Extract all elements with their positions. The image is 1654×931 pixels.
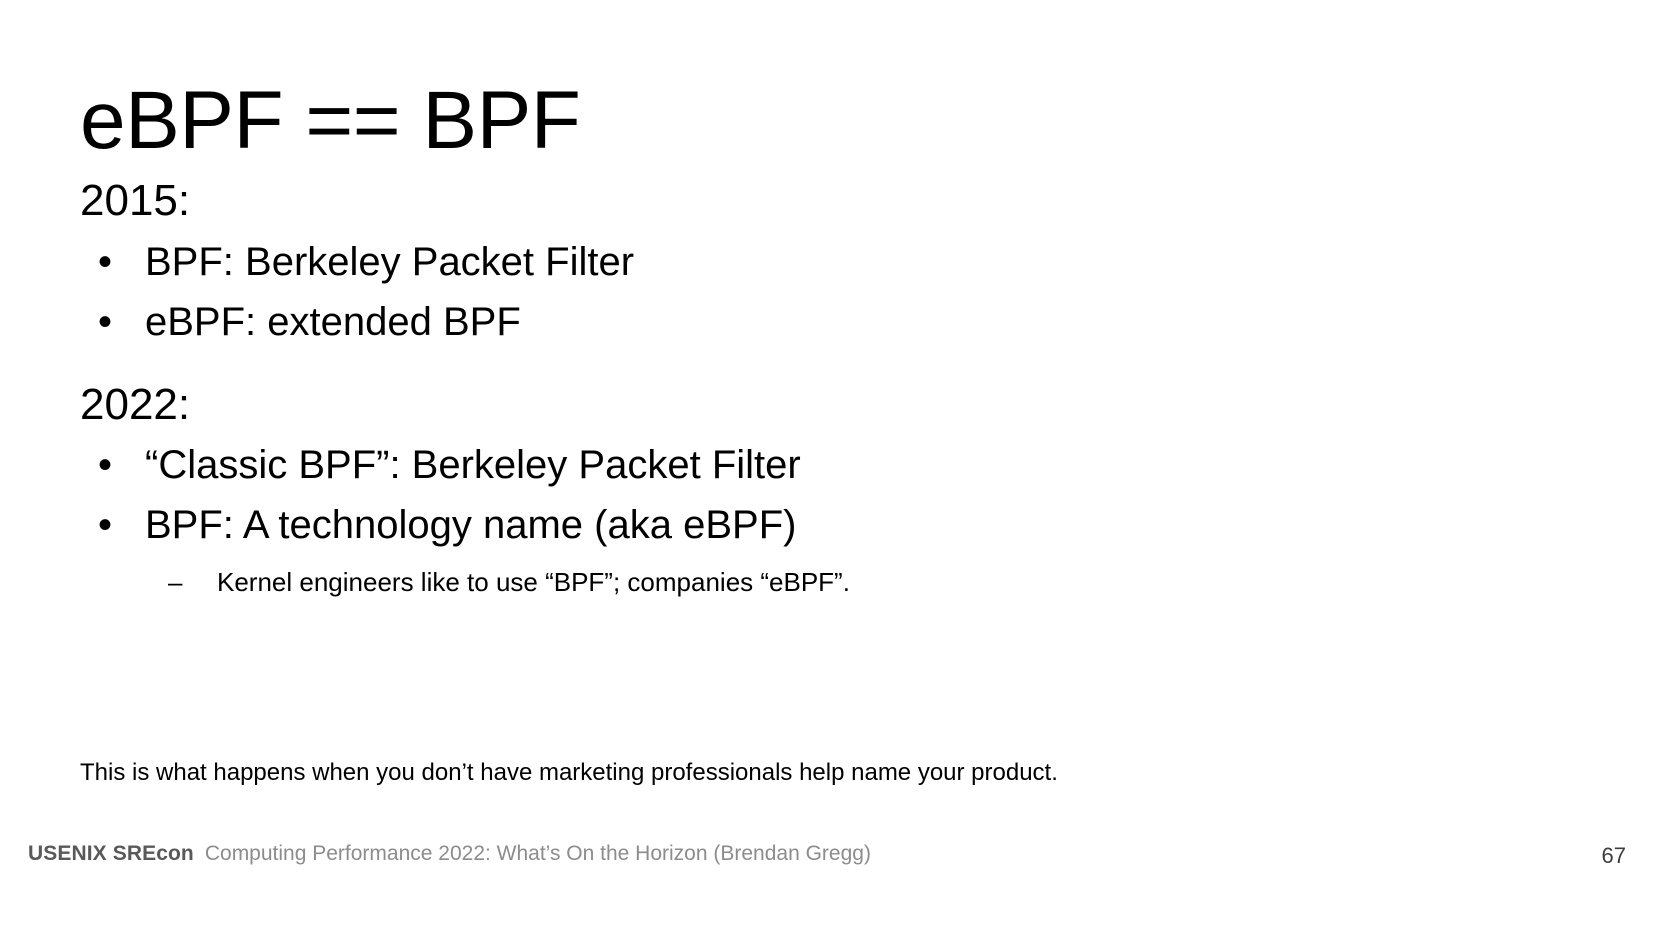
- slide-note: This is what happens when you don’t have…: [80, 757, 1058, 788]
- list-item: • BPF: A technology name (aka eBPF): [80, 501, 1580, 550]
- list-item-label: eBPF: extended BPF: [145, 300, 521, 344]
- bullet-dot-icon: •: [98, 238, 112, 287]
- bullet-dash-icon: –: [168, 566, 182, 599]
- slide-footer: USENIX SREcon Computing Performance 2022…: [28, 842, 1626, 882]
- page-title: eBPF == BPF: [80, 77, 580, 166]
- bullet-dot-icon: •: [98, 501, 112, 550]
- list-item-label: “Classic BPF”: Berkeley Packet Filter: [145, 443, 801, 487]
- list-item-label: BPF: A technology name (aka eBPF): [145, 503, 796, 547]
- bullet-list-2015: • BPF: Berkeley Packet Filter • eBPF: ex…: [80, 238, 1580, 347]
- bullet-dot-icon: •: [98, 441, 112, 490]
- footer-subtitle-label: Computing Performance 2022: What’s On th…: [205, 842, 871, 866]
- bullet-list-2022: • “Classic BPF”: Berkeley Packet Filter …: [80, 441, 1580, 550]
- section-heading-2015: 2015:: [80, 175, 1580, 227]
- list-item: • BPF: Berkeley Packet Filter: [80, 238, 1580, 287]
- list-item: • “Classic BPF”: Berkeley Packet Filter: [80, 441, 1580, 490]
- slide-body: 2015: • BPF: Berkeley Packet Filter • eB…: [80, 175, 1580, 599]
- subbullet-list-2022: – Kernel engineers like to use “BPF”; co…: [80, 566, 1580, 599]
- presentation-slide: eBPF == BPF 2015: • BPF: Berkeley Packet…: [0, 0, 1654, 931]
- sublist-item: – Kernel engineers like to use “BPF”; co…: [80, 566, 1580, 599]
- bullet-dot-icon: •: [98, 298, 112, 347]
- page-number: 67: [1602, 843, 1626, 869]
- list-item: • eBPF: extended BPF: [80, 298, 1580, 347]
- section-2022: 2022: • “Classic BPF”: Berkeley Packet F…: [80, 379, 1580, 599]
- list-item-label: BPF: Berkeley Packet Filter: [145, 240, 634, 284]
- section-2015: 2015: • BPF: Berkeley Packet Filter • eB…: [80, 175, 1580, 347]
- section-heading-2022: 2022:: [80, 379, 1580, 431]
- footer-brand-label: USENIX SREcon: [28, 842, 194, 866]
- sublist-item-label: Kernel engineers like to use “BPF”; comp…: [217, 567, 850, 597]
